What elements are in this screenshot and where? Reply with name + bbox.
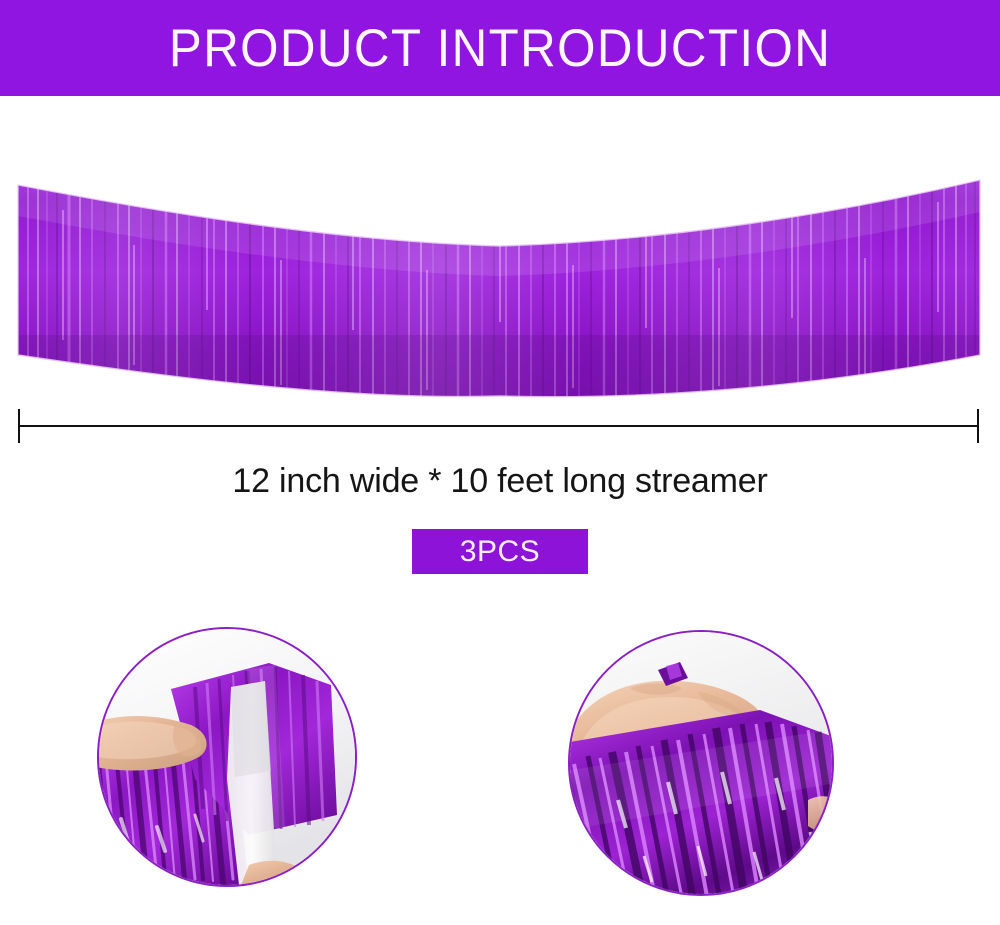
dimension-measure-bar — [0, 405, 1000, 451]
page-title: PRODUCT INTRODUCTION — [169, 22, 831, 75]
detail-photo-left — [97, 627, 357, 887]
photo-hand-peeling-fringe — [99, 629, 355, 885]
streamer-illustration — [0, 150, 1000, 420]
quantity-badge: 3PCS — [412, 529, 588, 574]
quantity-badge-label: 3PCS — [460, 537, 540, 567]
photo-hand-holding-fringe — [570, 632, 832, 894]
header-banner: PRODUCT INTRODUCTION — [0, 0, 1000, 96]
product-hero-image — [0, 150, 1000, 420]
spec-caption: 12 inch wide * 10 feet long streamer — [0, 462, 1000, 501]
detail-photo-right — [568, 630, 834, 896]
